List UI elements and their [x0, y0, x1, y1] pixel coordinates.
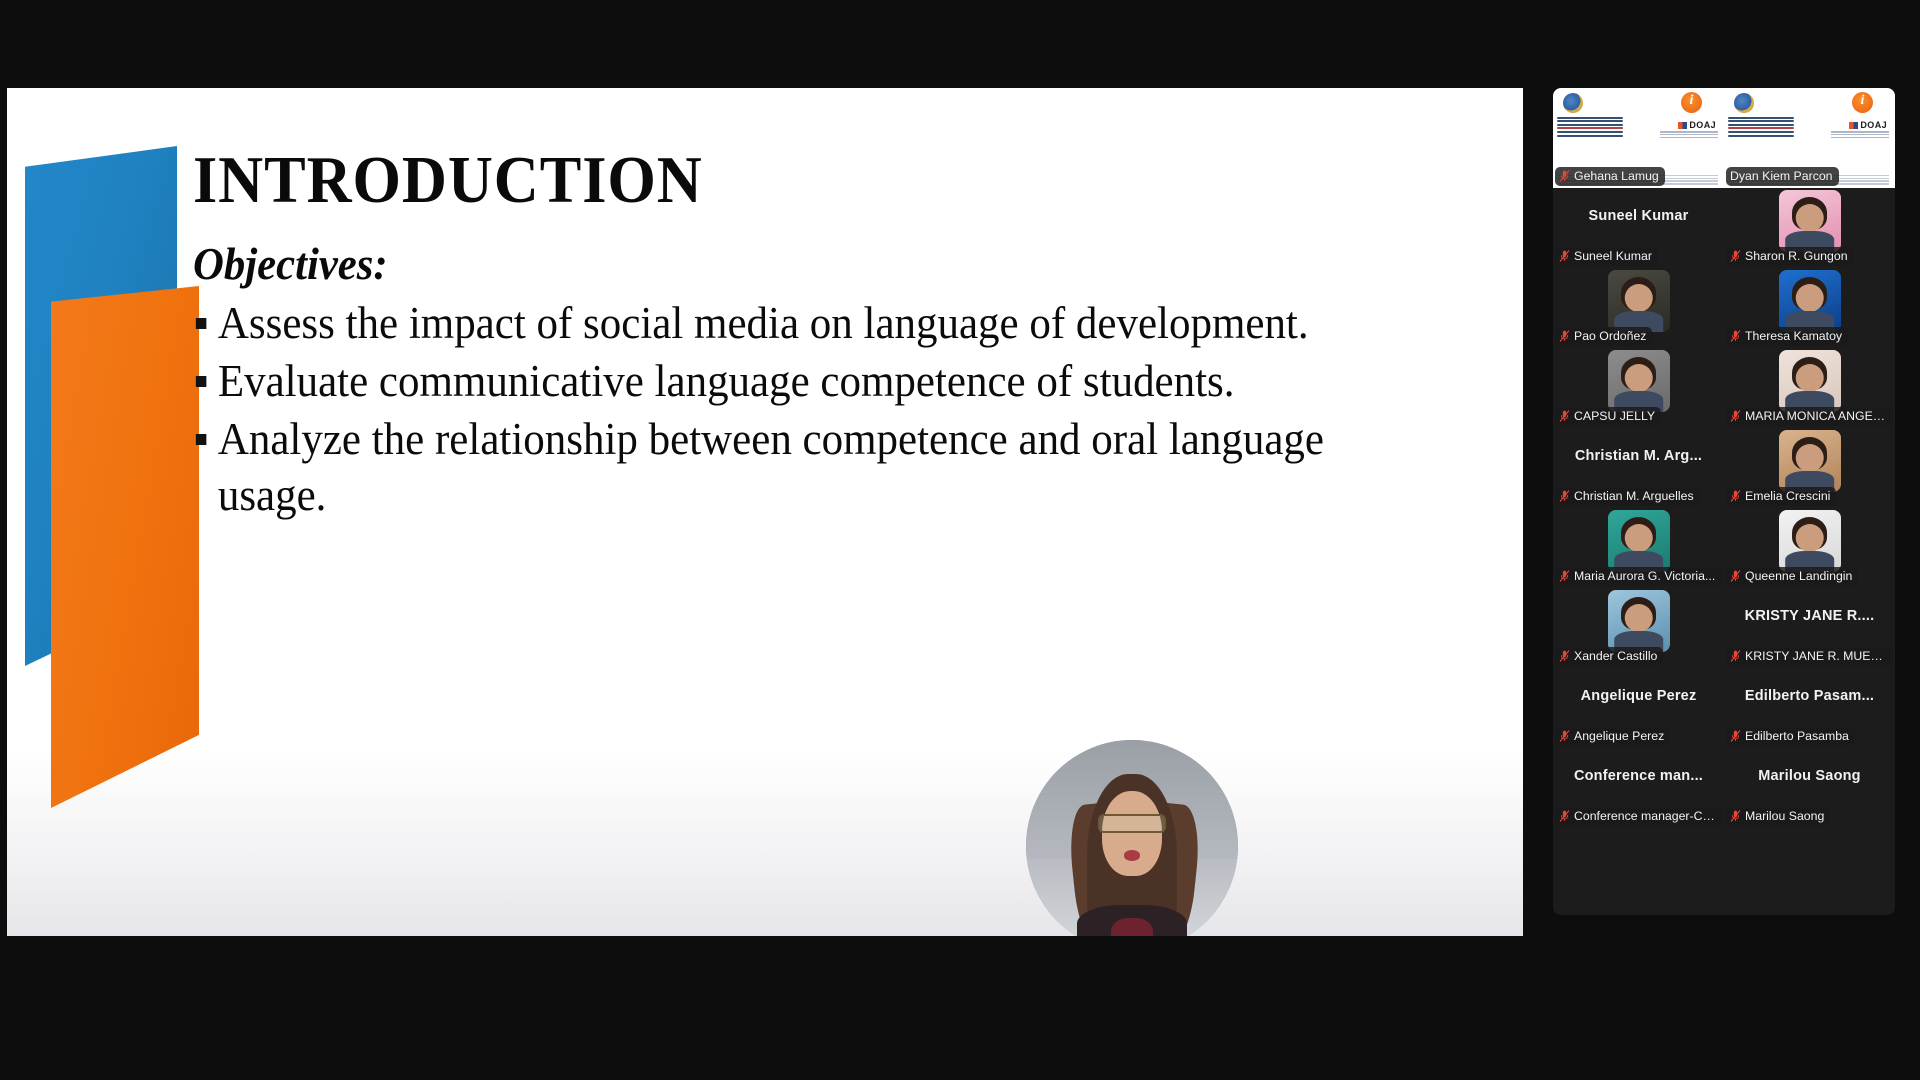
participant-display-name: Edilberto Pasam...: [1724, 688, 1895, 704]
participant-avatar: [1608, 510, 1670, 572]
vbg-sub-line: [1831, 137, 1889, 139]
participant-name-badge: MARIA MONICA ANGEL...: [1726, 407, 1894, 426]
participant-tile[interactable]: Suneel KumarSuneel Kumar: [1553, 188, 1724, 268]
participant-name-badge: Sharon R. Gungon: [1726, 247, 1854, 266]
participant-name-badge: Christian M. Arguelles: [1555, 487, 1700, 506]
shared-screen-slide[interactable]: INTRODUCTION Objectives: Assess the impa…: [7, 88, 1523, 936]
participant-avatar: [1779, 430, 1841, 492]
participant-tile[interactable]: CAPSU JELLY: [1553, 348, 1724, 428]
vbg-text-line: [1557, 135, 1623, 137]
gallery-row: DOAJGehana LamugDOAJDyan Kiem Parcon: [1553, 88, 1895, 188]
journal-info-icon: [1852, 92, 1873, 113]
gallery-row: Christian M. Arg...Christian M. Arguelle…: [1553, 428, 1895, 508]
vbg-sub-line: [1660, 134, 1718, 136]
participant-name-label: Gehana Lamug: [1574, 168, 1659, 184]
mic-muted-icon: [1730, 729, 1741, 743]
gallery-row: Angelique PerezAngelique PerezEdilberto …: [1553, 668, 1895, 748]
slide-bullet-list: Assess the impact of social media on lan…: [193, 296, 1483, 523]
avatar-face: [1795, 284, 1824, 313]
participant-name-badge: Pao Ordoñez: [1555, 327, 1652, 346]
mic-muted-icon: [1730, 569, 1741, 583]
participant-tile[interactable]: Christian M. Arg...Christian M. Arguelle…: [1553, 428, 1724, 508]
avatar-face: [1624, 604, 1653, 633]
participant-avatar: [1608, 590, 1670, 652]
participant-tile[interactable]: Conference man...Conference manager-CJ..…: [1553, 748, 1724, 828]
participant-tile[interactable]: Theresa Kamatoy: [1724, 268, 1895, 348]
participant-avatar: [1779, 270, 1841, 332]
slide-bullet-item: Analyze the relationship between compete…: [193, 412, 1425, 524]
participant-name-label: Maria Aurora G. Victoria...: [1574, 568, 1715, 584]
participant-display-name: Conference man...: [1553, 768, 1724, 784]
participant-name-label: Conference manager-CJ...: [1574, 808, 1717, 824]
participant-name-badge: Emelia Crescini: [1726, 487, 1836, 506]
vbg-text-line: [1728, 124, 1794, 126]
participant-tile[interactable]: Maria Aurora G. Victoria...: [1553, 508, 1724, 588]
participant-tile[interactable]: DOAJGehana Lamug: [1553, 88, 1724, 188]
vbg-sub-line: [1660, 137, 1718, 139]
participant-display-name: Marilou Saong: [1724, 768, 1895, 784]
orange-parallelogram-shape: [51, 286, 199, 808]
vbg-text-line: [1728, 131, 1794, 133]
mic-muted-icon: [1730, 809, 1741, 823]
participant-name-label: Suneel Kumar: [1574, 248, 1652, 264]
participant-name-badge: Marilou Saong: [1726, 807, 1830, 826]
journal-info-icon: [1681, 92, 1702, 113]
vbg-text-line: [1557, 131, 1623, 133]
participant-name-badge: CAPSU JELLY: [1555, 407, 1661, 426]
mic-muted-icon: [1730, 329, 1741, 343]
vbg-text-line: [1728, 127, 1794, 129]
conference-title-text: [1728, 115, 1794, 138]
participant-name-badge: Maria Aurora G. Victoria...: [1555, 567, 1721, 586]
gallery-row: Maria Aurora G. Victoria...Queenne Landi…: [1553, 508, 1895, 588]
mic-muted-icon: [1559, 249, 1570, 263]
speaker-mouth: [1124, 850, 1141, 861]
participant-tile[interactable]: Pao Ordoñez: [1553, 268, 1724, 348]
slide-bullet-item: Evaluate communicative language competen…: [193, 354, 1425, 410]
participant-name-label: Queenne Landingin: [1745, 568, 1852, 584]
mic-muted-icon: [1730, 489, 1741, 503]
participant-name-label: Xander Castillo: [1574, 648, 1657, 664]
mic-muted-icon: [1559, 409, 1570, 423]
avatar-face: [1624, 364, 1653, 393]
participant-name-badge: Queenne Landingin: [1726, 567, 1858, 586]
participant-name-badge: Conference manager-CJ...: [1555, 807, 1723, 826]
gallery-row: Suneel KumarSuneel KumarSharon R. Gungon: [1553, 188, 1895, 268]
mic-muted-icon: [1730, 409, 1741, 423]
participant-tile[interactable]: MARIA MONICA ANGEL...: [1724, 348, 1895, 428]
avatar-face: [1795, 444, 1824, 473]
participant-tile[interactable]: Edilberto Pasam...Edilberto Pasamba: [1724, 668, 1895, 748]
participant-tile[interactable]: Marilou SaongMarilou Saong: [1724, 748, 1895, 828]
avatar-face: [1795, 524, 1824, 553]
mic-muted-icon: [1559, 329, 1570, 343]
participant-display-name: Suneel Kumar: [1553, 208, 1724, 224]
slide-subtitle: Objectives:: [193, 238, 1419, 290]
vbg-text-line: [1728, 117, 1794, 119]
participant-name-label: Edilberto Pasamba: [1745, 728, 1849, 744]
vbg-sub-line: [1660, 131, 1718, 133]
doaj-logo-icon: DOAJ: [1849, 120, 1887, 130]
participant-avatar: [1608, 270, 1670, 332]
vbg-text-line: [1557, 117, 1623, 119]
participant-name-label: Marilou Saong: [1745, 808, 1824, 824]
participant-name-label: KRISTY JANE R. MUEGNA: [1745, 648, 1888, 664]
gallery-row: Pao OrdoñezTheresa Kamatoy: [1553, 268, 1895, 348]
mic-muted-icon: [1559, 169, 1570, 183]
participant-name-badge: Edilberto Pasamba: [1726, 727, 1855, 746]
mic-muted-icon: [1559, 569, 1570, 583]
speaker-shirt: [1111, 918, 1153, 936]
participant-tile[interactable]: Queenne Landingin: [1724, 508, 1895, 588]
conference-seal-icon: [1563, 93, 1583, 113]
participant-avatar: [1779, 190, 1841, 252]
vbg-text-line: [1557, 120, 1623, 122]
doaj-subtext: [1831, 130, 1889, 139]
gallery-strip-panel[interactable]: DOAJGehana LamugDOAJDyan Kiem ParconSune…: [1553, 88, 1895, 915]
participant-name-badge: KRISTY JANE R. MUEGNA: [1726, 647, 1894, 666]
vbg-text-line: [1728, 135, 1794, 137]
participant-tile[interactable]: Angelique PerezAngelique Perez: [1553, 668, 1724, 748]
participant-name-label: Emelia Crescini: [1745, 488, 1830, 504]
speaker-face: [1102, 791, 1161, 876]
mic-muted-icon: [1559, 489, 1570, 503]
participant-name-badge: Dyan Kiem Parcon: [1726, 167, 1839, 186]
participant-name-badge: Theresa Kamatoy: [1726, 327, 1848, 346]
participant-name-badge: Xander Castillo: [1555, 647, 1663, 666]
mic-muted-icon: [1730, 249, 1741, 263]
slide-bullet-item: Assess the impact of social media on lan…: [193, 296, 1425, 352]
participant-name-label: CAPSU JELLY: [1574, 408, 1655, 424]
zoom-meeting-window: INTRODUCTION Objectives: Assess the impa…: [0, 0, 1920, 1080]
participant-name-label: Angelique Perez: [1574, 728, 1664, 744]
participant-avatar: [1779, 350, 1841, 412]
slide-content: INTRODUCTION Objectives: Assess the impa…: [193, 144, 1483, 526]
participant-name-label: Sharon R. Gungon: [1745, 248, 1848, 264]
avatar-face: [1624, 524, 1653, 553]
gallery-row: CAPSU JELLYMARIA MONICA ANGEL...: [1553, 348, 1895, 428]
participant-tile[interactable]: KRISTY JANE R....KRISTY JANE R. MUEGNA: [1724, 588, 1895, 668]
participant-avatar: [1608, 350, 1670, 412]
participant-tile[interactable]: Sharon R. Gungon: [1724, 188, 1895, 268]
avatar-face: [1795, 204, 1824, 233]
gallery-row: Xander CastilloKRISTY JANE R....KRISTY J…: [1553, 588, 1895, 668]
active-speaker-video-bubble[interactable]: [1026, 740, 1238, 936]
participant-name-label: MARIA MONICA ANGEL...: [1745, 408, 1888, 424]
participant-tile[interactable]: Xander Castillo: [1553, 588, 1724, 668]
participant-name-label: Christian M. Arguelles: [1574, 488, 1694, 504]
participant-name-label: Dyan Kiem Parcon: [1730, 168, 1833, 184]
participant-avatar: [1779, 510, 1841, 572]
mic-muted-icon: [1559, 809, 1570, 823]
vbg-sub-line: [1831, 131, 1889, 133]
participant-name-badge: Angelique Perez: [1555, 727, 1670, 746]
slide-title: INTRODUCTION: [193, 144, 1393, 216]
mic-muted-icon: [1559, 649, 1570, 663]
participant-name-label: Theresa Kamatoy: [1745, 328, 1842, 344]
doaj-logo-icon: DOAJ: [1678, 120, 1716, 130]
gallery-row: Conference man...Conference manager-CJ..…: [1553, 748, 1895, 828]
vbg-sub-line: [1831, 134, 1889, 136]
avatar-face: [1624, 284, 1653, 313]
participant-display-name: Christian M. Arg...: [1553, 448, 1724, 464]
conference-title-text: [1557, 115, 1623, 138]
participant-name-label: Pao Ordoñez: [1574, 328, 1646, 344]
speaker-glasses: [1098, 814, 1166, 833]
participant-tile[interactable]: DOAJDyan Kiem Parcon: [1724, 88, 1895, 188]
mic-muted-icon: [1559, 729, 1570, 743]
participant-display-name: KRISTY JANE R....: [1724, 608, 1895, 624]
participant-name-badge: Suneel Kumar: [1555, 247, 1658, 266]
participant-name-badge: Gehana Lamug: [1555, 167, 1665, 186]
participant-tile[interactable]: Emelia Crescini: [1724, 428, 1895, 508]
vbg-text-line: [1557, 127, 1623, 129]
participant-display-name: Angelique Perez: [1553, 688, 1724, 704]
vbg-text-line: [1728, 120, 1794, 122]
mic-muted-icon: [1730, 649, 1741, 663]
doaj-subtext: [1660, 130, 1718, 139]
vbg-text-line: [1557, 124, 1623, 126]
conference-seal-icon: [1734, 93, 1754, 113]
avatar-face: [1795, 364, 1824, 393]
